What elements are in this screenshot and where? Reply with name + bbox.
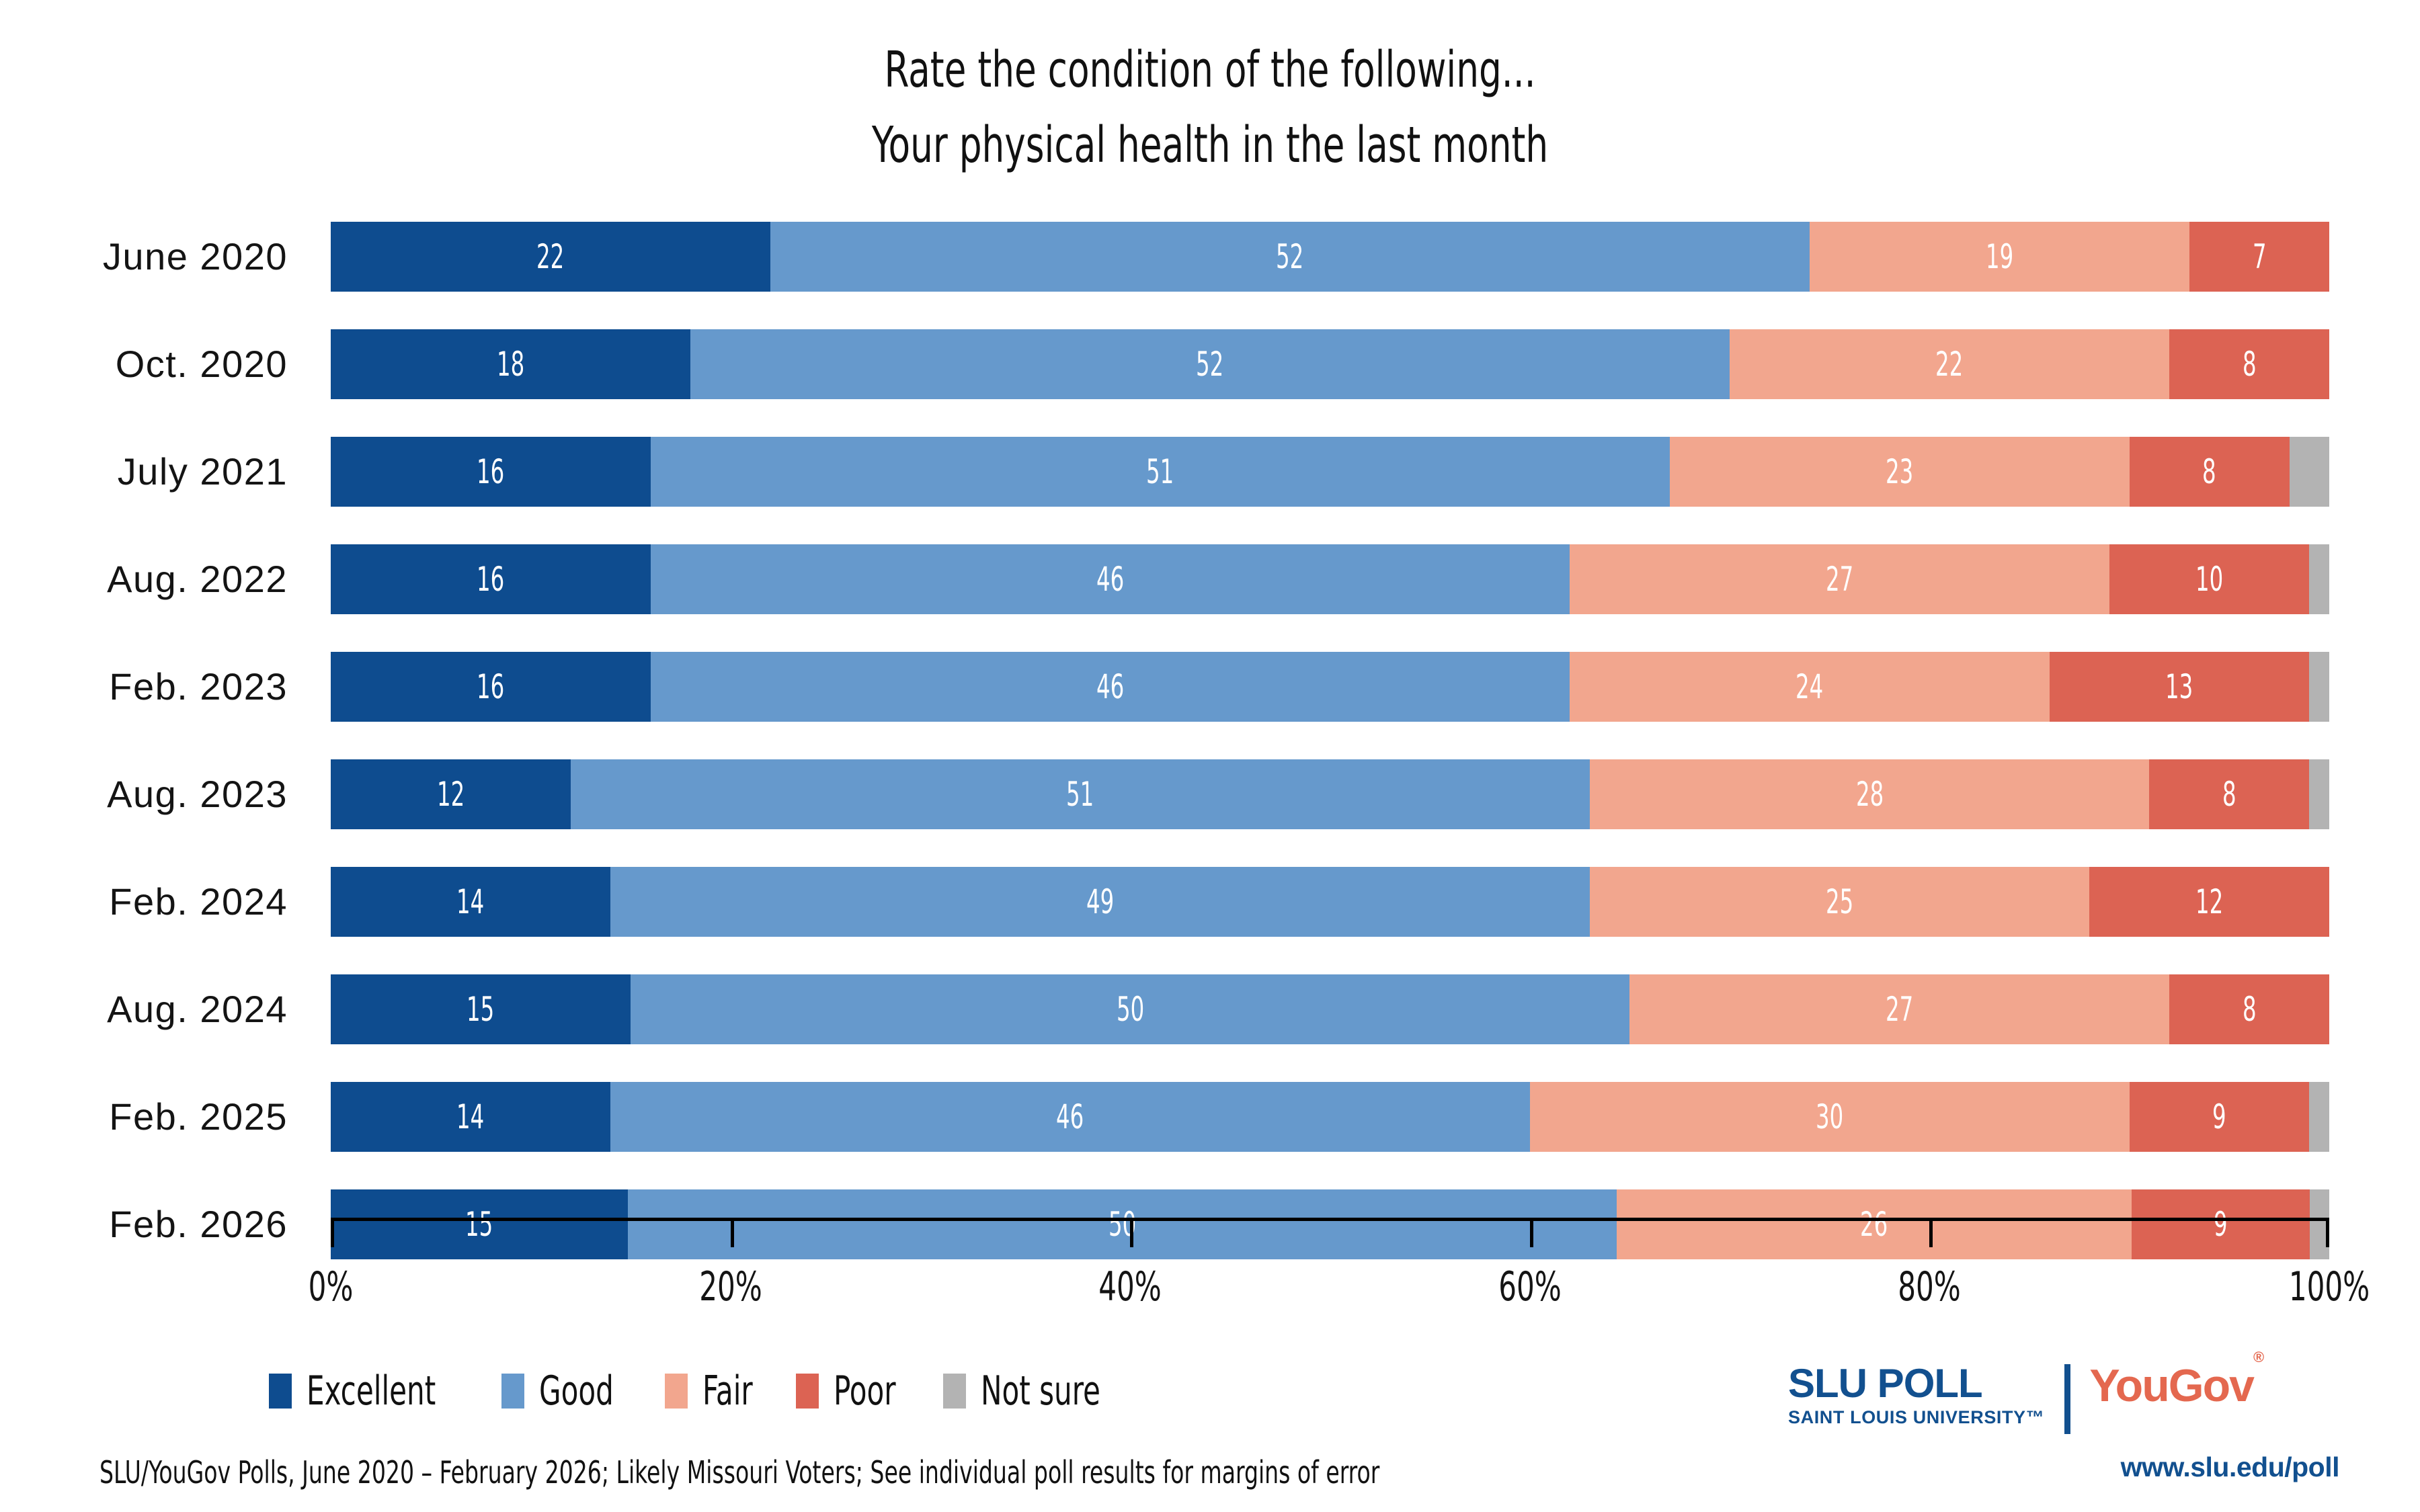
- bar-segment-good[interactable]: 52: [770, 222, 1810, 292]
- legend-label: Fair: [702, 1371, 753, 1411]
- bar-segment-good[interactable]: 46: [651, 544, 1570, 614]
- chart-row: Oct. 20201852228: [0, 329, 2420, 399]
- row-category-label: Aug. 2023: [0, 759, 288, 829]
- source-footnote: SLU/YouGov Polls, June 2020 – February 2…: [99, 1457, 1379, 1488]
- stacked-bar: 14492512: [331, 867, 2329, 937]
- bar-segment-value: 52: [1276, 240, 1303, 274]
- stacked-bar: 1446309: [331, 1082, 2329, 1152]
- bar-segment-value: 16: [477, 455, 504, 489]
- bar-segment-value: 13: [2165, 670, 2193, 704]
- legend-swatch: [501, 1374, 524, 1409]
- bar-segment-excellent[interactable]: 18: [331, 329, 690, 399]
- stacked-bar: 1651238: [331, 437, 2329, 507]
- legend-label: Excellent: [307, 1371, 436, 1411]
- bar-segment-good[interactable]: 46: [651, 652, 1570, 722]
- row-category-label: Oct. 2020: [0, 329, 288, 399]
- bar-segment-value: 22: [1935, 347, 1963, 381]
- logo-divider: [2064, 1364, 2070, 1434]
- bar-segment-value: 12: [437, 778, 465, 811]
- bar-segment-poor[interactable]: 8: [2169, 329, 2329, 399]
- row-category-label: Feb. 2023: [0, 652, 288, 722]
- chart-row: Feb. 20261550269: [0, 1189, 2420, 1259]
- row-category-label: July 2021: [0, 437, 288, 507]
- bar-segment-excellent[interactable]: 15: [331, 974, 631, 1044]
- bar-segment-value: 27: [1886, 993, 1913, 1026]
- bar-segment-value: 9: [2214, 1208, 2228, 1241]
- bar-segment-poor[interactable]: 8: [2130, 437, 2290, 507]
- legend-label: Good: [539, 1371, 614, 1411]
- x-axis-line: [331, 1218, 2329, 1221]
- row-category-label: Aug. 2024: [0, 974, 288, 1044]
- bar-segment-excellent[interactable]: 14: [331, 867, 610, 937]
- bar-segment-poor[interactable]: 13: [2050, 652, 2309, 722]
- bar-segment-value: 30: [1816, 1100, 1843, 1134]
- bar-segment-fair[interactable]: 25: [1590, 867, 2089, 937]
- x-axis-tick-label: 0%: [263, 1263, 399, 1310]
- bar-segment-value: 51: [1146, 455, 1174, 489]
- slu-poll-url[interactable]: www.slu.edu/poll: [2121, 1452, 2339, 1483]
- stacked-bar: 2252197: [331, 222, 2329, 292]
- x-axis-tick-label: 80%: [1861, 1263, 1998, 1310]
- bar-segment-value: 12: [2195, 885, 2223, 919]
- legend-label: Not sure: [981, 1371, 1100, 1411]
- bar-segment-good[interactable]: 50: [631, 974, 1630, 1044]
- bar-segment-value: 26: [1860, 1208, 1888, 1241]
- x-axis-tick-label: 100%: [2261, 1263, 2398, 1310]
- bar-segment-poor[interactable]: 9: [2132, 1189, 2310, 1259]
- legend-item-excellent[interactable]: Excellent: [269, 1371, 472, 1411]
- bar-segment-value: 14: [456, 1100, 484, 1134]
- bar-segment-value: 8: [2202, 455, 2216, 489]
- x-axis-tick-label: 60%: [1461, 1263, 1598, 1310]
- x-axis-tick: [331, 1218, 334, 1247]
- bar-segment-excellent[interactable]: 16: [331, 437, 651, 507]
- legend-swatch: [269, 1374, 292, 1409]
- bar-segment-poor[interactable]: 8: [2169, 974, 2329, 1044]
- bar-segment-poor[interactable]: 12: [2089, 867, 2329, 937]
- bar-segment-value: 25: [1826, 885, 1853, 919]
- bar-segment-excellent[interactable]: 12: [331, 759, 571, 829]
- bar-segment-value: 46: [1096, 562, 1124, 596]
- bar-segment-value: 46: [1096, 670, 1124, 704]
- chart-row: June 20202252197: [0, 222, 2420, 292]
- x-axis-tick-label: 40%: [1062, 1263, 1199, 1310]
- x-axis-tick: [1929, 1218, 1933, 1247]
- bar-segment-value: 46: [1056, 1100, 1084, 1134]
- legend-swatch: [665, 1374, 688, 1409]
- stacked-bar: 16462413: [331, 652, 2329, 722]
- legend-swatch: [796, 1374, 819, 1409]
- x-axis-tick-label: 20%: [662, 1263, 799, 1310]
- saint-louis-university-wordmark: SAINT LOUIS UNIVERSITY™: [1788, 1406, 2044, 1428]
- logo-block: SLU POLL SAINT LOUIS UNIVERSITY™ YouGov®…: [1788, 1363, 2339, 1490]
- yougov-logo: YouGov®: [2089, 1363, 2263, 1409]
- x-axis-tick: [731, 1218, 734, 1247]
- legend-swatch: [943, 1374, 966, 1409]
- bar-segment-value: 14: [456, 885, 484, 919]
- stacked-bar: 16462710: [331, 544, 2329, 614]
- stacked-bar-chart: June 20202252197Oct. 20201852228July 202…: [0, 0, 2420, 1512]
- slu-poll-logo: SLU POLL SAINT LOUIS UNIVERSITY™: [1788, 1363, 2044, 1429]
- bar-segment-fair[interactable]: 22: [1730, 329, 2169, 399]
- row-category-label: Aug. 2022: [0, 544, 288, 614]
- bar-segment-value: 23: [1886, 455, 1913, 489]
- bar-segment-value: 51: [1066, 778, 1094, 811]
- stacked-bar: 1852228: [331, 329, 2329, 399]
- bar-segment-value: 50: [1117, 993, 1144, 1026]
- yougov-wordmark: YouGov: [2089, 1360, 2253, 1411]
- bar-segment-value: 8: [2243, 347, 2257, 381]
- bar-segment-value: 8: [2243, 993, 2257, 1026]
- bar-segment-value: 28: [1856, 778, 1884, 811]
- bar-segment-value: 15: [467, 993, 494, 1026]
- legend-item-good[interactable]: Good: [501, 1371, 635, 1411]
- bar-segment-value: 27: [1826, 562, 1853, 596]
- row-category-label: June 2020: [0, 222, 288, 292]
- bar-segment-value: 9: [2212, 1100, 2226, 1134]
- bar-segment-fair[interactable]: 28: [1590, 759, 2149, 829]
- bar-segment-not-sure[interactable]: [2309, 759, 2329, 829]
- chart-row: Aug. 20241550278: [0, 974, 2420, 1044]
- x-axis-tick: [2326, 1218, 2329, 1247]
- bar-segment-value: 16: [477, 670, 504, 704]
- stacked-bar: 1550278: [331, 974, 2329, 1044]
- bar-segment-fair[interactable]: 27: [1629, 974, 2169, 1044]
- row-category-label: Feb. 2025: [0, 1082, 288, 1152]
- bar-segment-good[interactable]: 50: [628, 1189, 1617, 1259]
- chart-row: Aug. 202216462710: [0, 544, 2420, 614]
- stacked-bar: 1251288: [331, 759, 2329, 829]
- bar-segment-good[interactable]: 51: [651, 437, 1670, 507]
- bar-segment-value: 24: [1796, 670, 1823, 704]
- bar-segment-value: 22: [536, 240, 564, 274]
- bar-segment-value: 49: [1086, 885, 1114, 919]
- bar-segment-fair[interactable]: 27: [1570, 544, 2109, 614]
- chart-row: July 20211651238: [0, 437, 2420, 507]
- chart-row: Feb. 20251446309: [0, 1082, 2420, 1152]
- bar-segment-fair[interactable]: 24: [1570, 652, 2050, 722]
- row-category-label: Feb. 2024: [0, 867, 288, 937]
- bar-segment-good[interactable]: 52: [690, 329, 1730, 399]
- bar-segment-value: 52: [1196, 347, 1223, 381]
- bar-segment-fair[interactable]: 30: [1530, 1082, 2130, 1152]
- bar-segment-fair[interactable]: 19: [1810, 222, 2189, 292]
- legend-item-fair[interactable]: Fair: [665, 1371, 767, 1411]
- x-axis-tick: [1130, 1218, 1133, 1247]
- bar-segment-not-sure[interactable]: [2309, 652, 2329, 722]
- bar-segment-excellent[interactable]: 14: [331, 1082, 610, 1152]
- bar-segment-value: 18: [497, 347, 524, 381]
- stacked-bar: 1550269: [331, 1189, 2329, 1259]
- bar-segment-value: 15: [465, 1208, 493, 1241]
- bar-segment-good[interactable]: 49: [610, 867, 1590, 937]
- logo-row: SLU POLL SAINT LOUIS UNIVERSITY™ YouGov®: [1788, 1363, 2339, 1443]
- x-axis-tick: [1530, 1218, 1533, 1247]
- bar-segment-good[interactable]: 51: [571, 759, 1590, 829]
- legend-item-poor[interactable]: Poor: [796, 1371, 914, 1411]
- row-category-label: Feb. 2026: [0, 1189, 288, 1259]
- bar-segment-excellent[interactable]: 16: [331, 544, 651, 614]
- slu-poll-wordmark: SLU POLL: [1788, 1363, 1982, 1404]
- registered-trademark-icon: ®: [2253, 1349, 2263, 1366]
- chart-row: Aug. 20231251288: [0, 759, 2420, 829]
- bar-segment-value: 19: [1986, 240, 2013, 274]
- bar-segment-not-sure[interactable]: [2309, 1082, 2329, 1152]
- chart-legend: ExcellentGoodFairPoorNot sure: [269, 1371, 1164, 1411]
- bar-segment-poor[interactable]: 7: [2189, 222, 2329, 292]
- bar-segment-value: 7: [2253, 240, 2267, 274]
- bar-segment-not-sure[interactable]: [2309, 544, 2329, 614]
- legend-label: Poor: [834, 1371, 896, 1411]
- bar-segment-excellent[interactable]: 22: [331, 222, 770, 292]
- bar-segment-value: 8: [2222, 778, 2236, 811]
- legend-item-not-sure[interactable]: Not sure: [943, 1371, 1134, 1411]
- bar-segment-excellent[interactable]: 15: [331, 1189, 628, 1259]
- bar-segment-fair[interactable]: 23: [1670, 437, 2130, 507]
- bar-segment-value: 16: [477, 562, 504, 596]
- bar-segment-poor[interactable]: 8: [2149, 759, 2309, 829]
- bar-segment-fair[interactable]: 26: [1617, 1189, 2131, 1259]
- bar-segment-good[interactable]: 46: [610, 1082, 1530, 1152]
- bar-segment-not-sure[interactable]: [2290, 437, 2329, 507]
- bar-segment-poor[interactable]: 10: [2109, 544, 2309, 614]
- chart-row: Feb. 202414492512: [0, 867, 2420, 937]
- chart-row: Feb. 202316462413: [0, 652, 2420, 722]
- bar-segment-excellent[interactable]: 16: [331, 652, 651, 722]
- bar-segment-poor[interactable]: 9: [2130, 1082, 2310, 1152]
- bar-segment-value: 10: [2195, 562, 2223, 596]
